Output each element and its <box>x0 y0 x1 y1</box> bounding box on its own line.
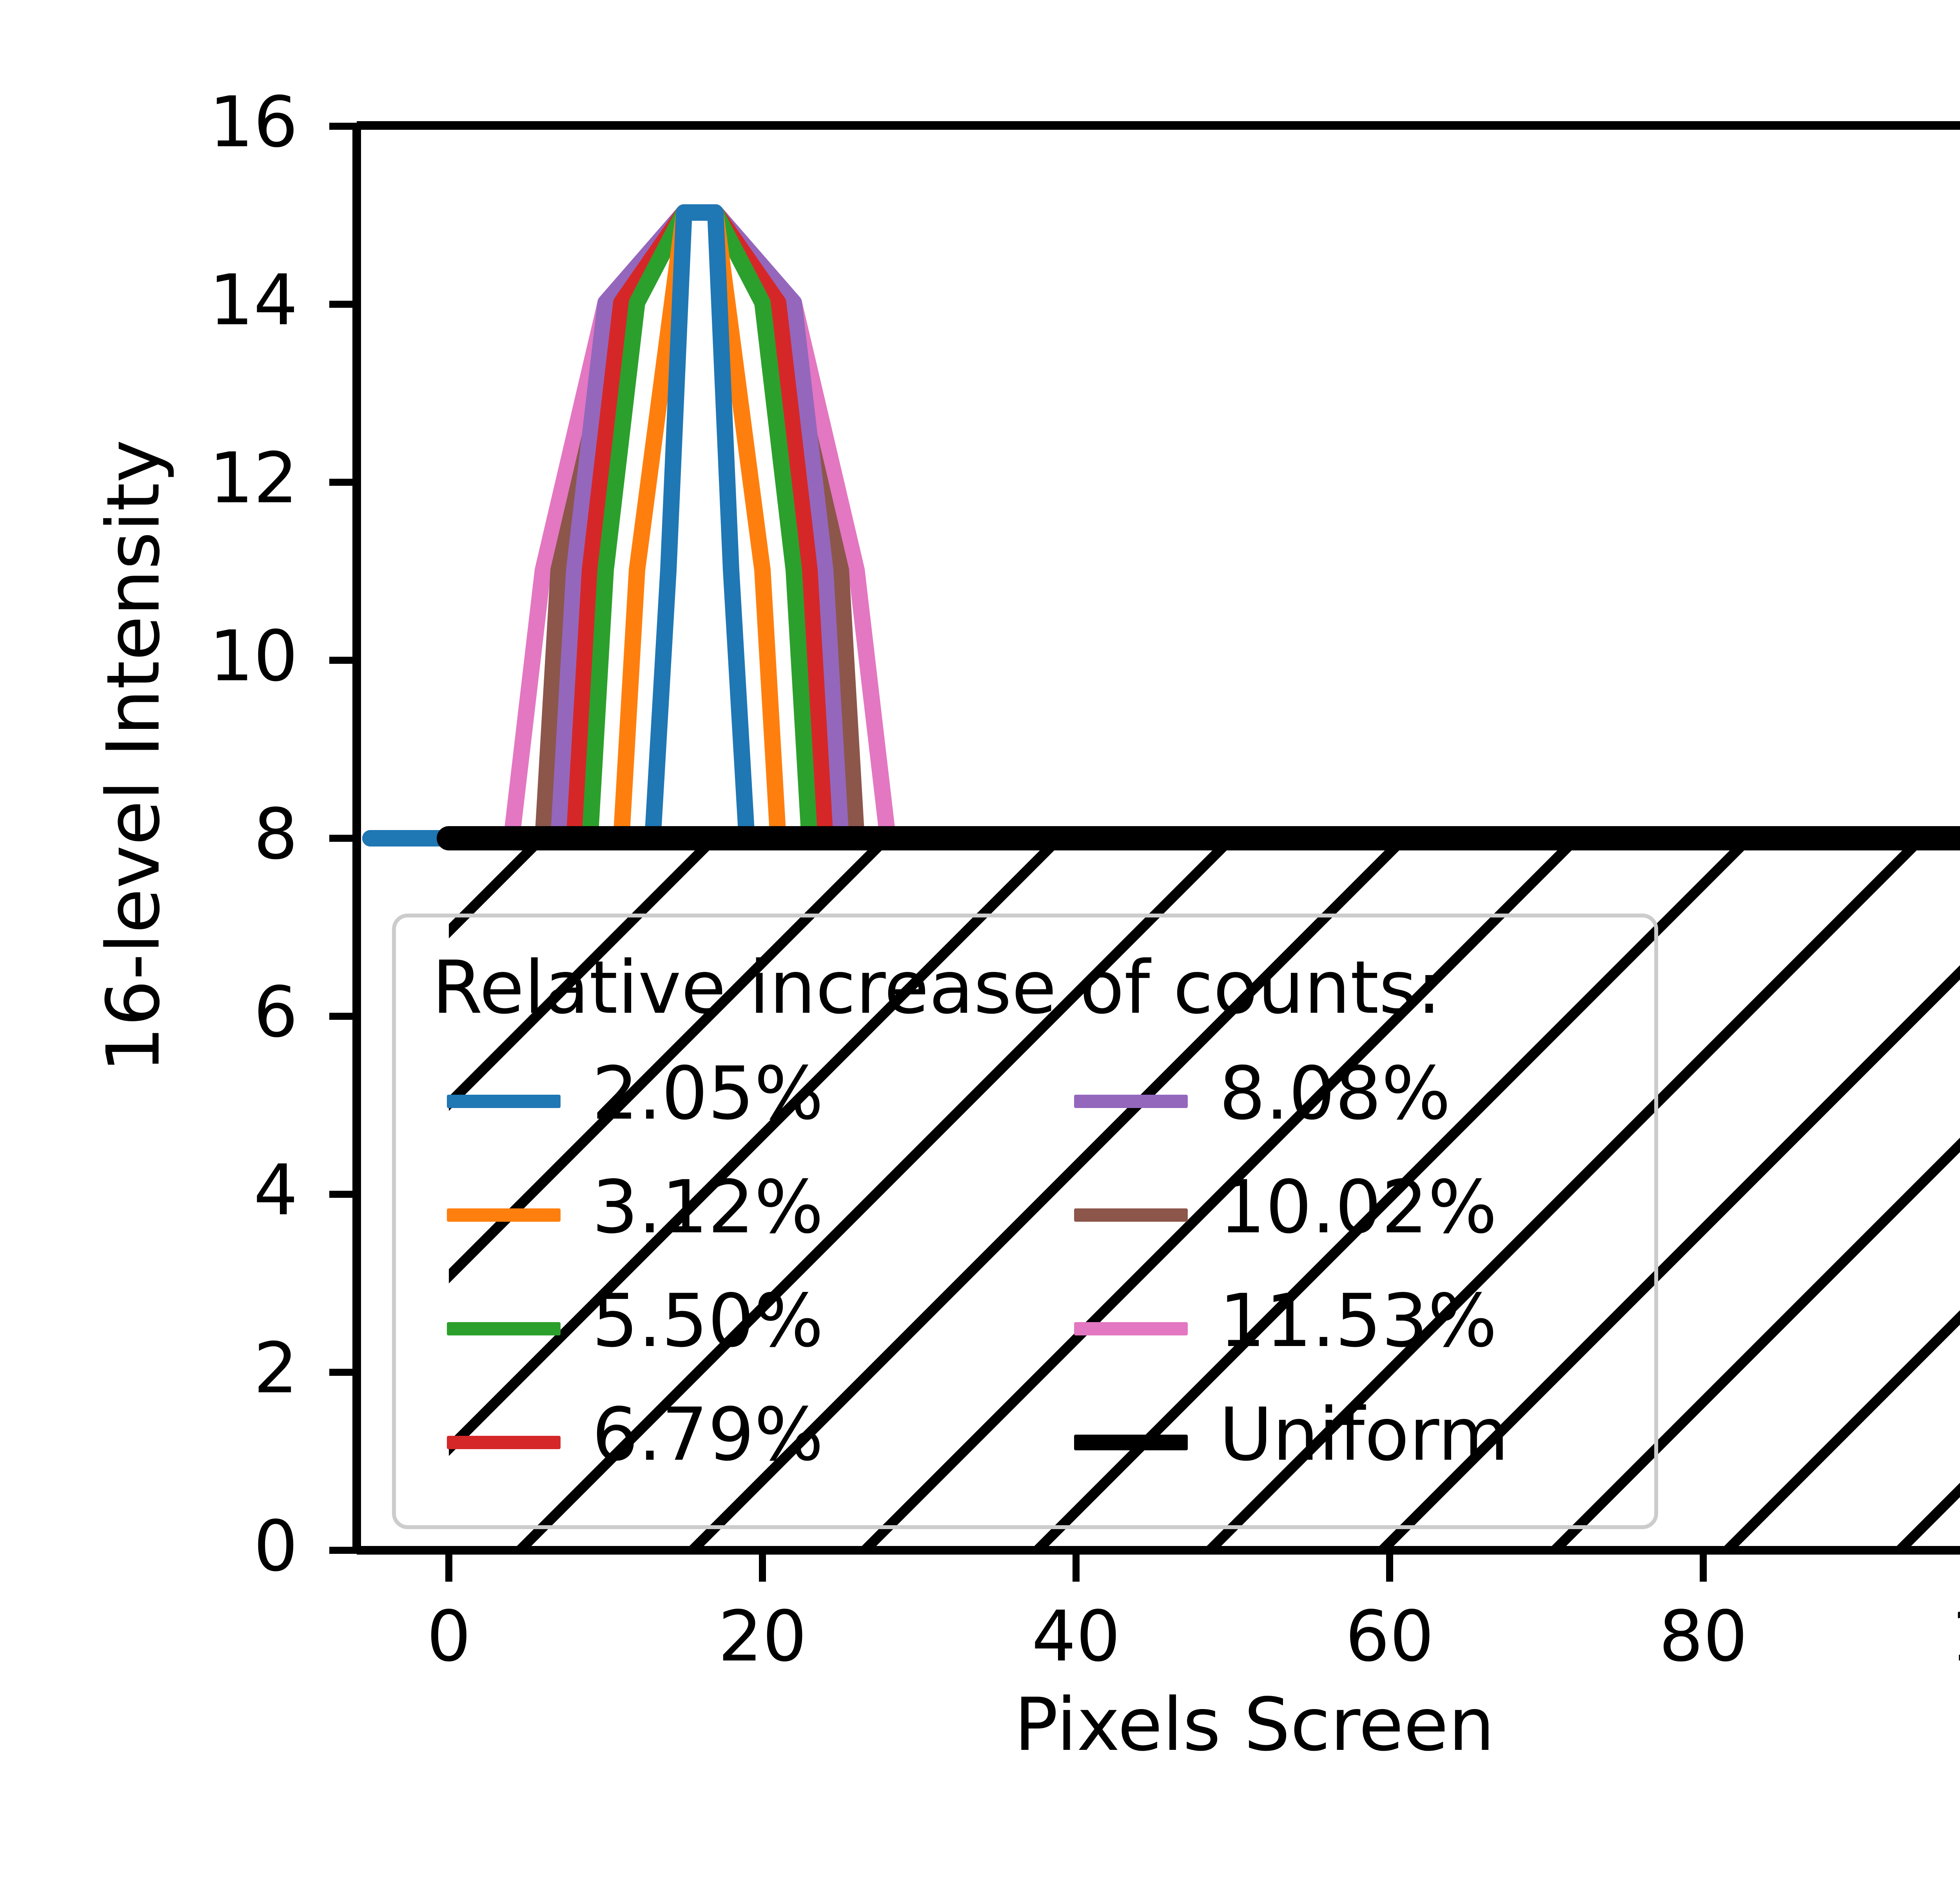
legend-title: Relative increase of counts: <box>432 945 1441 1030</box>
legend-swatch-5-50 <box>447 1322 561 1335</box>
legend-label-3-12: 3.12% <box>592 1164 824 1250</box>
legend-swatch-6-79 <box>447 1436 561 1449</box>
x-axis-title: Pixels Screen <box>0 1682 1960 1767</box>
x-tick-label-60: 60 <box>1272 1596 1507 1677</box>
legend-label-6-79: 6.79% <box>592 1392 824 1477</box>
legend-label-8-08: 8.08% <box>1219 1051 1451 1136</box>
legend-label-10-02: 10.02% <box>1219 1164 1497 1250</box>
x-tick-label-20: 20 <box>645 1596 880 1677</box>
legend-label-uniform: Uniform <box>1219 1392 1509 1477</box>
x-axis-ticks <box>449 1550 1960 1582</box>
legend-swatch-8-08 <box>1074 1095 1188 1108</box>
legend-swatch-10-02 <box>1074 1208 1188 1222</box>
y-tick-label-2: 2 <box>78 1328 298 1409</box>
figure-canvas: 16 14 12 10 8 6 4 2 0 0 20 40 60 80 100 … <box>0 0 1960 1882</box>
legend-label-5-50: 5.50% <box>592 1278 824 1363</box>
x-tick-label-0: 0 <box>331 1596 566 1677</box>
legend-label-11-53: 11.53% <box>1219 1278 1497 1363</box>
legend-swatch-11-53 <box>1074 1322 1188 1335</box>
chart-legend: Relative increase of counts: 2.05% 3.12%… <box>392 914 1658 1529</box>
legend-label-2-05: 2.05% <box>592 1051 824 1136</box>
y-tick-label-16: 16 <box>78 82 298 163</box>
y-axis-title: 16-level Intensity <box>91 207 176 1305</box>
x-tick-label-80: 80 <box>1586 1596 1821 1677</box>
x-tick-label-100: 100 <box>1899 1596 1960 1677</box>
y-tick-label-0: 0 <box>78 1506 298 1587</box>
legend-swatch-3-12 <box>447 1208 561 1222</box>
legend-swatch-2-05 <box>447 1095 561 1108</box>
x-tick-label-40: 40 <box>958 1596 1194 1677</box>
legend-swatch-uniform <box>1074 1435 1188 1450</box>
